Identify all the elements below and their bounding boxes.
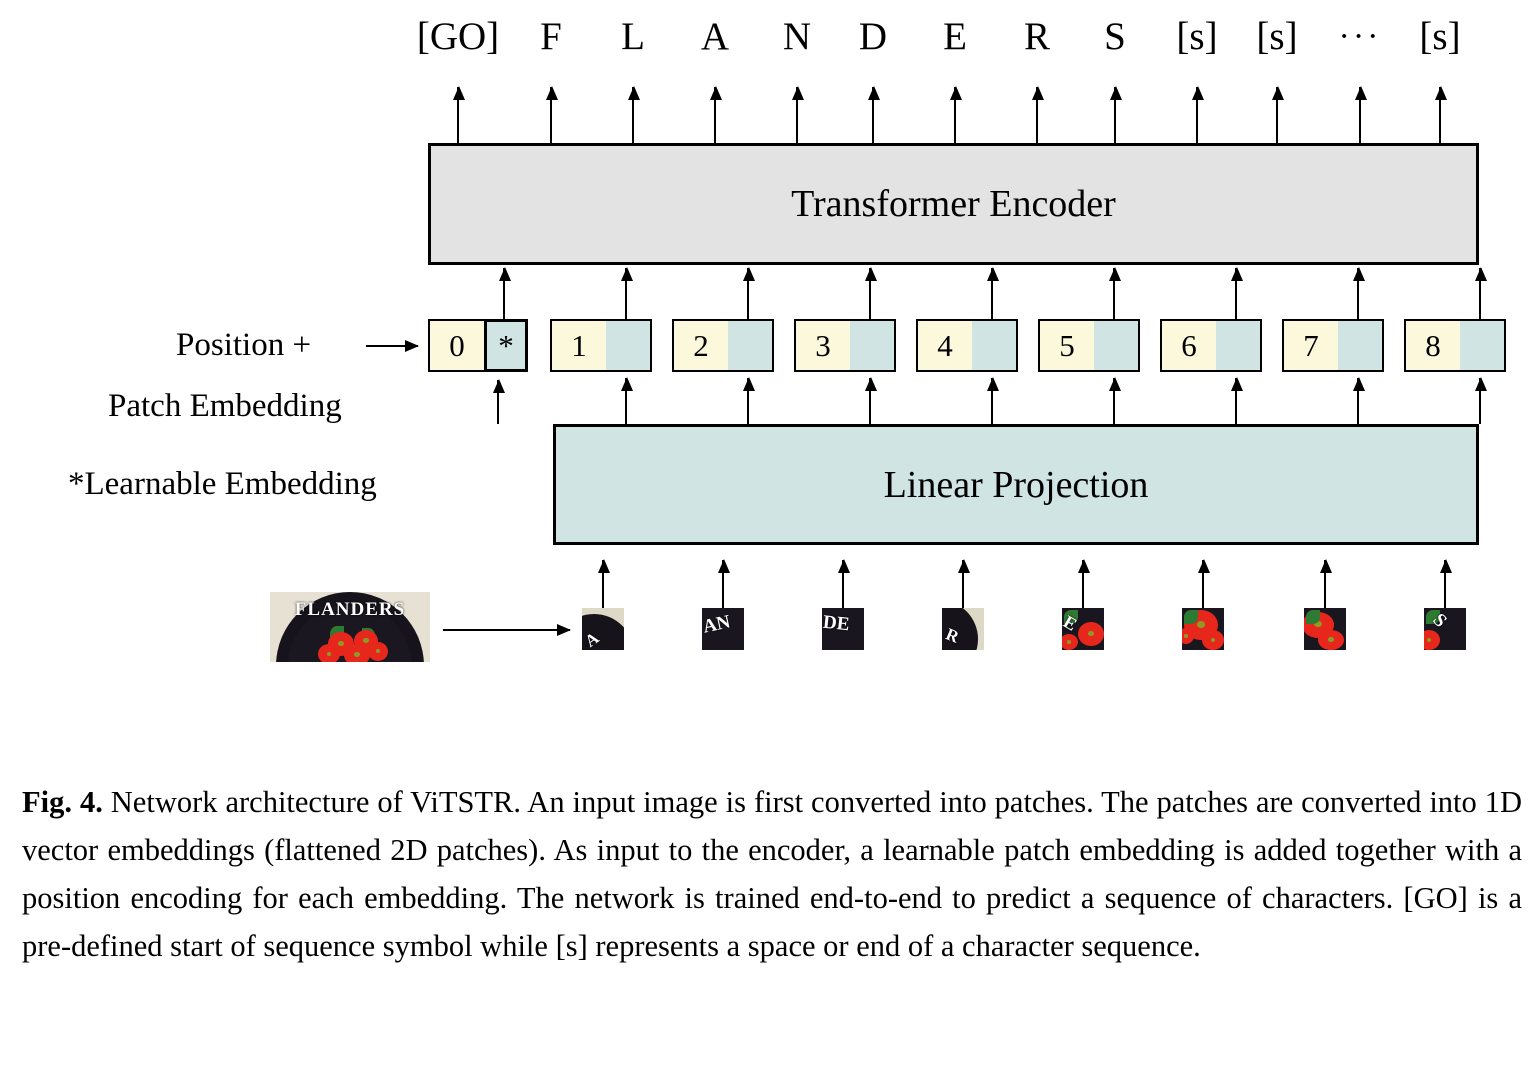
output-arrow-8 <box>1114 87 1116 143</box>
output-token-2: L <box>621 14 645 60</box>
output-arrow-10 <box>1276 87 1278 143</box>
projection-to-token-arrow-3 <box>869 378 871 424</box>
token-box-2: 2 <box>672 319 774 372</box>
position-arrow <box>366 345 418 347</box>
token-to-encoder-arrow-6 <box>1235 268 1237 319</box>
image-patch-4: E <box>1062 608 1104 650</box>
poppy-icon <box>368 642 388 661</box>
token-embedding-7 <box>1338 321 1382 370</box>
token-position-7: 7 <box>1284 321 1338 370</box>
token-box-7: 7 <box>1282 319 1384 372</box>
position-label-text: Position + <box>176 327 311 363</box>
leaf-icon <box>1306 610 1320 624</box>
output-token-12: [s] <box>1419 14 1460 60</box>
poppy-icon <box>1424 630 1440 650</box>
patch-to-projection-arrow-6 <box>1324 560 1326 608</box>
token-to-encoder-arrow-0 <box>503 268 505 319</box>
token-position-8: 8 <box>1406 321 1460 370</box>
patch-to-projection-arrow-1 <box>722 560 724 608</box>
token-box-5: 5 <box>1038 319 1140 372</box>
output-token-9: [s] <box>1176 14 1217 60</box>
token-box-3: 3 <box>794 319 896 372</box>
projection-to-token-arrow-4 <box>991 378 993 424</box>
output-arrow-2 <box>632 87 634 143</box>
token-embedding-6 <box>1216 321 1260 370</box>
leaf-icon <box>1184 610 1198 624</box>
projection-to-token-arrow-8 <box>1479 378 1481 424</box>
output-token-1: F <box>540 14 562 60</box>
poppy-icon <box>344 644 370 662</box>
token-embedding-5 <box>1094 321 1138 370</box>
image-patch-7: S <box>1424 608 1466 650</box>
image-patch-3: R <box>942 608 984 650</box>
token-embedding-4 <box>972 321 1016 370</box>
output-token-11: ··· <box>1339 14 1382 60</box>
token-embedding-2 <box>728 321 772 370</box>
token-position-3: 3 <box>796 321 850 370</box>
caption-text: Network architecture of ViTSTR. An input… <box>22 785 1522 963</box>
poppy-icon <box>1202 630 1224 650</box>
output-arrow-0 <box>457 87 459 143</box>
token-box-4: 4 <box>916 319 1018 372</box>
token-to-encoder-arrow-5 <box>1113 268 1115 319</box>
token-embedding-1 <box>606 321 650 370</box>
output-token-8: S <box>1104 14 1126 60</box>
output-arrow-1 <box>550 87 552 143</box>
poppy-icon <box>318 644 340 662</box>
patch-to-projection-arrow-5 <box>1202 560 1204 608</box>
output-arrow-5 <box>872 87 874 143</box>
token-position-5: 5 <box>1040 321 1094 370</box>
poppy-icon <box>1062 634 1078 650</box>
image-patch-2: DE <box>822 608 864 650</box>
figure-number: Fig. 4. <box>22 785 103 819</box>
output-arrow-4 <box>796 87 798 143</box>
output-arrow-3 <box>714 87 716 143</box>
output-arrow-11 <box>1359 87 1361 143</box>
projection-to-token-arrow-5 <box>1113 378 1115 424</box>
poppy-icon <box>1182 628 1194 644</box>
token-to-encoder-arrow-4 <box>991 268 993 319</box>
output-token-5: D <box>859 14 887 60</box>
output-token-10: [s] <box>1256 14 1297 60</box>
source-input-image: FLANDERS <box>270 592 430 662</box>
token-box-8: 8 <box>1404 319 1506 372</box>
output-token-7: R <box>1024 14 1050 60</box>
token-to-encoder-arrow-3 <box>869 268 871 319</box>
patch-embedding-label: Patch Embedding <box>108 386 342 426</box>
patch-embedding-label-text: Patch Embedding <box>108 388 342 424</box>
output-arrow-7 <box>1036 87 1038 143</box>
projection-to-token-arrow-2 <box>747 378 749 424</box>
token-to-encoder-arrow-8 <box>1479 268 1481 319</box>
learnable-embedding-arrow <box>497 380 499 424</box>
image-patch-1: AN <box>702 608 744 650</box>
projection-to-token-arrow-1 <box>625 378 627 424</box>
poppy-icon <box>1318 630 1344 650</box>
image-patch-6 <box>1304 608 1346 650</box>
token-to-encoder-arrow-1 <box>625 268 627 319</box>
token-position-1: 1 <box>552 321 606 370</box>
patch-to-projection-arrow-0 <box>602 560 604 608</box>
linear-projection-label: Linear Projection <box>884 463 1149 507</box>
sign-text: FLANDERS <box>270 599 430 621</box>
projection-to-token-arrow-7 <box>1357 378 1359 424</box>
output-arrow-12 <box>1439 87 1441 143</box>
image-to-patches-arrow <box>443 629 570 631</box>
learnable-embedding-label-text: *Learnable Embedding <box>68 466 377 502</box>
token-box-6: 6 <box>1160 319 1262 372</box>
token-box-0: 0* <box>428 319 528 372</box>
image-patch-5 <box>1182 608 1224 650</box>
output-token-4: N <box>783 14 811 60</box>
figure-caption: Fig. 4. Network architecture of ViTSTR. … <box>22 778 1522 970</box>
token-position-6: 6 <box>1162 321 1216 370</box>
position-label: Position + <box>176 325 311 365</box>
token-to-encoder-arrow-2 <box>747 268 749 319</box>
output-token-0: [GO] <box>417 14 499 60</box>
patch-glyph: DE <box>822 612 850 637</box>
token-position-0: 0 <box>430 321 484 370</box>
patch-to-projection-arrow-7 <box>1444 560 1446 608</box>
token-embedding-8 <box>1460 321 1504 370</box>
linear-projection-block: Linear Projection <box>553 424 1479 545</box>
output-arrow-9 <box>1196 87 1198 143</box>
token-embedding-3 <box>850 321 894 370</box>
output-arrow-6 <box>954 87 956 143</box>
transformer-encoder-label: Transformer Encoder <box>791 182 1116 226</box>
poppy-icon <box>1078 622 1104 646</box>
learnable-embedding-label: *Learnable Embedding <box>68 464 377 504</box>
patch-to-projection-arrow-4 <box>1082 560 1084 608</box>
token-to-encoder-arrow-7 <box>1357 268 1359 319</box>
transformer-encoder-block: Transformer Encoder <box>428 143 1479 265</box>
patch-glyph: AN <box>702 611 732 638</box>
image-patch-0: A <box>582 608 624 650</box>
vitstr-architecture-figure: [GO]FLANDERS[s][s]···[s] Transformer Enc… <box>0 0 1540 760</box>
output-token-6: E <box>943 14 967 60</box>
token-position-2: 2 <box>674 321 728 370</box>
patch-to-projection-arrow-2 <box>842 560 844 608</box>
projection-to-token-arrow-6 <box>1235 378 1237 424</box>
patch-to-projection-arrow-3 <box>962 560 964 608</box>
token-position-4: 4 <box>918 321 972 370</box>
output-token-3: A <box>701 14 729 60</box>
token-box-1: 1 <box>550 319 652 372</box>
token-embedding-0: * <box>484 319 528 372</box>
